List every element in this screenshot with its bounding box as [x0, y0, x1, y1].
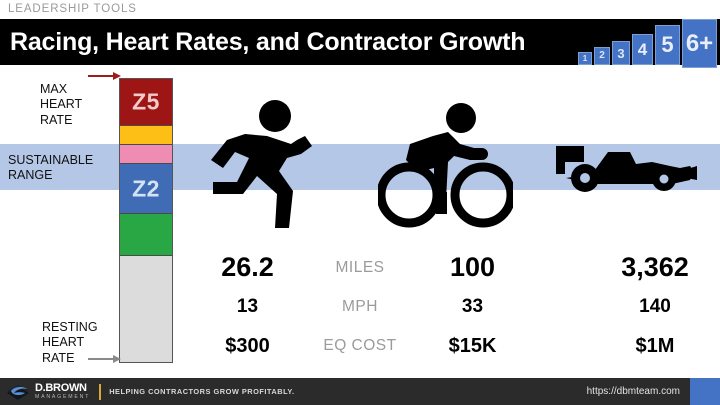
racing-miles-value: 3,362: [590, 252, 720, 283]
max-heart-rate-label-line3: RATE: [40, 113, 82, 128]
stage-badge-6-plus[interactable]: 6+: [682, 19, 717, 68]
stage-badge-4[interactable]: 4: [632, 34, 653, 65]
footer-bar: D.BROWN MANAGEMENT HELPING CONTRACTORS G…: [0, 378, 720, 405]
resting-heart-rate-label-line3: RATE: [42, 351, 98, 366]
stage-badge-2[interactable]: 2: [594, 47, 610, 65]
cycling-eq-cost-value: $15K: [415, 335, 530, 358]
cycling-mph-value: 33: [415, 296, 530, 318]
eyebrow-label: LEADERSHIP TOOLS: [8, 3, 137, 15]
max-heart-rate-label-line1: MAX: [40, 82, 82, 97]
racecar-icon: [552, 140, 697, 198]
logo-name: D.BROWN: [35, 383, 90, 394]
cyclist-icon: [378, 100, 513, 230]
metrics-row-eq-cost: $300 EQ COST $15K $1M: [190, 327, 720, 366]
stage-badge-5[interactable]: 5: [655, 25, 680, 65]
heart-rate-zone-bar: Z5 Z2: [119, 78, 173, 363]
zone-5-label: Z5: [120, 89, 172, 116]
running-mph-value: 13: [190, 296, 305, 318]
zone-2: Z2: [120, 164, 172, 214]
sustainable-range-label: SUSTAINABLE RANGE: [8, 153, 93, 184]
stage-badge-3[interactable]: 3: [612, 41, 630, 65]
racing-mph-value: 140: [590, 296, 720, 318]
resting-heart-rate-label-line1: RESTING: [42, 320, 98, 335]
metrics-table: 26.2 MILES 100 3,362 13 MPH 33 140 $300 …: [190, 248, 720, 366]
resting-heart-rate-label: RESTING HEART RATE: [42, 320, 98, 366]
zone-5: Z5: [120, 79, 172, 126]
max-heart-rate-label-line2: HEART: [40, 97, 82, 112]
stage-badges: 1 2 3 4 5 6+: [567, 19, 717, 65]
metrics-label-miles: MILES: [305, 259, 415, 277]
zone-2-label: Z2: [120, 175, 172, 202]
slide-canvas: LEADERSHIP TOOLS Racing, Heart Rates, an…: [0, 0, 720, 405]
stage-badge-1[interactable]: 1: [578, 52, 592, 65]
footer-accent-block: [690, 378, 720, 405]
sustainable-range-label-line2: RANGE: [8, 168, 93, 183]
zone-4: [120, 126, 172, 145]
sustainable-range-label-line1: SUSTAINABLE: [8, 153, 93, 168]
page-title: Racing, Heart Rates, and Contractor Grow…: [10, 28, 525, 57]
metrics-label-mph: MPH: [305, 298, 415, 316]
footer-url[interactable]: https://dbmteam.com: [587, 386, 680, 397]
logo-sub: MANAGEMENT: [35, 395, 90, 400]
zone-3: [120, 145, 172, 164]
runner-icon: [205, 96, 325, 231]
cycling-miles-value: 100: [415, 252, 530, 283]
running-miles-value: 26.2: [190, 252, 305, 283]
max-heart-rate-label: MAX HEART RATE: [40, 82, 82, 128]
zone-1: [120, 214, 172, 256]
footer-tagline: HELPING CONTRACTORS GROW PROFITABLY.: [109, 387, 294, 396]
metrics-row-mph: 13 MPH 33 140: [190, 287, 720, 326]
dbrown-logo-text: D.BROWN MANAGEMENT: [35, 383, 90, 400]
dbrown-logo-icon: [5, 382, 31, 402]
zone-resting: [120, 256, 172, 362]
metrics-row-miles: 26.2 MILES 100 3,362: [190, 248, 720, 287]
running-eq-cost-value: $300: [190, 335, 305, 358]
metrics-label-eq-cost: EQ COST: [305, 337, 415, 355]
footer-divider: [99, 384, 101, 400]
racing-eq-cost-value: $1M: [590, 335, 720, 358]
resting-heart-rate-label-line2: HEART: [42, 335, 98, 350]
